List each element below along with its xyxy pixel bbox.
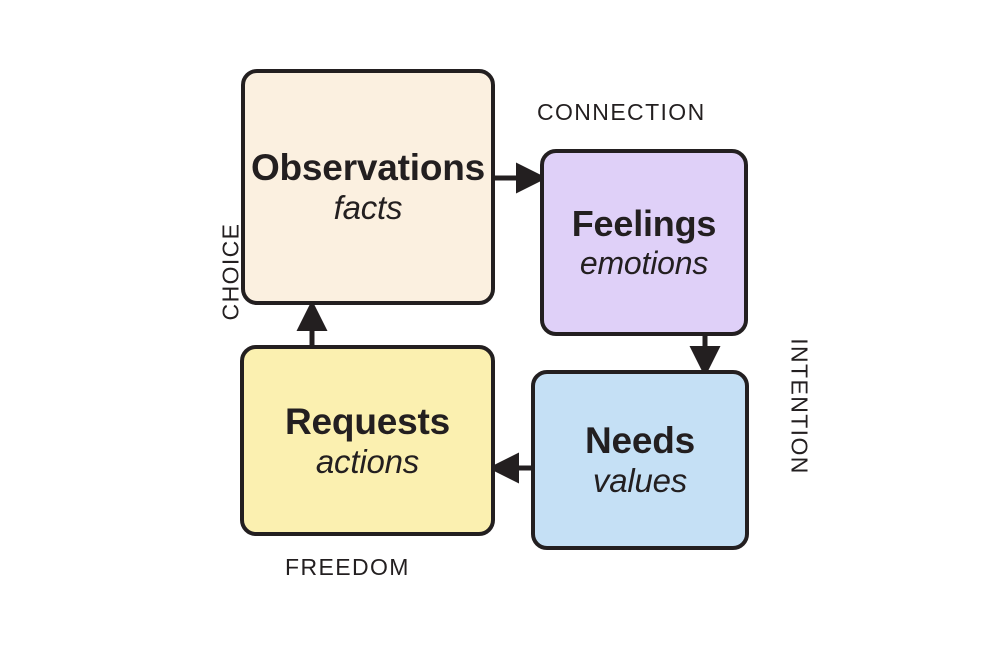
nvc-cycle-diagram: Observations facts Feelings emotions Nee…	[0, 0, 1000, 670]
node-requests[interactable]: Requests actions	[240, 345, 495, 536]
node-needs-title: Needs	[585, 421, 695, 461]
node-requests-subtitle: actions	[316, 444, 419, 480]
node-requests-title: Requests	[285, 402, 450, 442]
node-feelings-subtitle: emotions	[580, 246, 708, 281]
arrow-layer	[0, 0, 1000, 670]
edge-label-choice: CHOICE	[218, 197, 245, 347]
node-observations-subtitle: facts	[334, 190, 403, 226]
edge-label-freedom: FREEDOM	[285, 554, 410, 581]
node-feelings-title: Feelings	[572, 205, 716, 244]
node-observations-title: Observations	[251, 148, 485, 188]
node-needs[interactable]: Needs values	[531, 370, 749, 550]
node-feelings[interactable]: Feelings emotions	[540, 149, 748, 336]
edge-label-intention: INTENTION	[786, 322, 813, 492]
node-needs-subtitle: values	[593, 463, 687, 499]
edge-label-connection: CONNECTION	[537, 99, 706, 126]
node-observations[interactable]: Observations facts	[241, 69, 495, 305]
